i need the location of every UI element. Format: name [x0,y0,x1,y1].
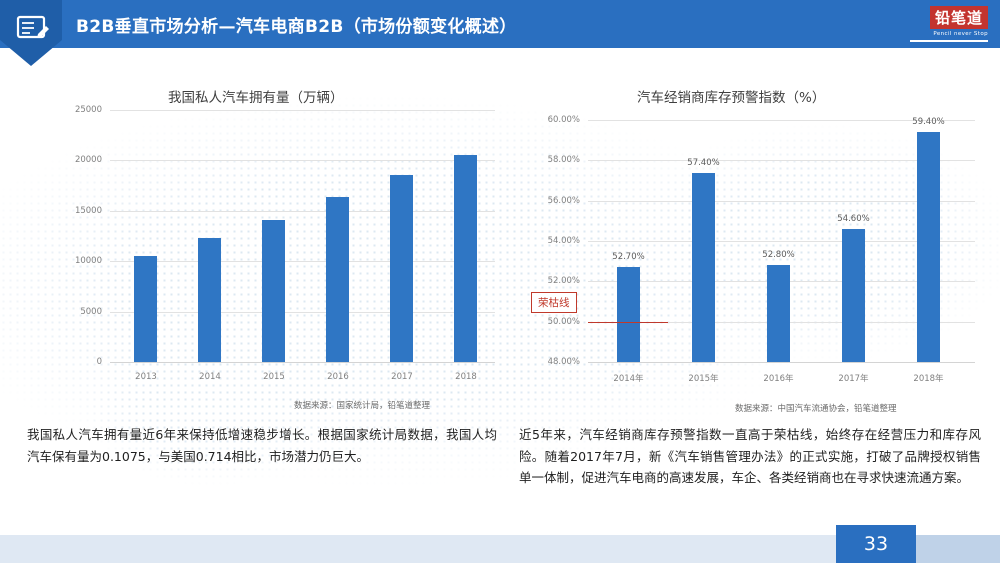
y-tick-label: 60.00% [520,115,580,125]
left-chart-title: 我国私人汽车拥有量（万辆） [168,86,344,106]
x-tick-label: 2016年 [751,372,806,384]
left-chart-source: 数据来源：国家统计局，铅笔道整理 [294,399,430,411]
x-tick-label: 2016 [311,372,365,382]
x-axis-line [110,362,495,363]
right-chart-title: 汽车经销商库存预警指数（%） [637,86,825,106]
bar[interactable] [326,197,349,362]
gridline [110,211,495,212]
y-tick-label: 5000 [50,307,102,317]
gridline [110,312,495,313]
bar-value-label: 57.40% [677,158,730,168]
y-tick-label: 0 [50,357,102,367]
y-tick-label: 10000 [50,256,102,266]
y-tick-label: 52.00% [520,276,580,286]
x-tick-label: 2018 [439,372,493,382]
left-summary-text: 我国私人汽车拥有量近6年来保持低增速稳步增长。根据国家统计局数据，我国人均汽车保… [27,424,497,467]
y-tick-label: 50.00% [520,317,580,327]
x-axis-line [588,362,975,363]
y-tick-label: 15000 [50,206,102,216]
bar[interactable] [454,155,477,362]
y-tick-label: 20000 [50,155,102,165]
x-tick-label: 2017年 [826,372,881,384]
bar[interactable] [134,256,157,362]
left-chart: 25000 20000 15000 10000 5000 0 2013 2014… [40,110,510,400]
bar[interactable] [692,173,715,363]
y-tick-label: 56.00% [520,196,580,206]
x-tick-label: 2017 [375,372,429,382]
bar[interactable] [917,132,940,362]
footer-accent-block [916,535,1000,563]
gridline [110,110,495,111]
threshold-line [588,322,668,323]
gridline [110,160,495,161]
bar-value-label: 54.60% [827,214,880,224]
x-tick-label: 2014 [183,372,237,382]
gridline [110,261,495,262]
page-title: B2B垂直市场分析—汽车电商B2B（市场份额变化概述） [76,12,517,37]
brand-logo-en: Pencil never Stop [910,31,988,37]
bar[interactable] [767,265,790,362]
y-tick-label: 54.00% [520,236,580,246]
x-tick-label: 2015年 [676,372,731,384]
bar-value-label: 52.70% [602,252,655,262]
x-tick-label: 2014年 [601,372,656,384]
x-tick-label: 2018年 [901,372,956,384]
right-chart-source: 数据来源：中国汽车流通协会，铅笔道整理 [735,402,897,414]
logo-icon [0,0,62,66]
bar[interactable] [262,220,285,362]
brand-logo-cn: 铅笔道 [930,6,988,29]
bar[interactable] [617,267,640,362]
bar-value-label: 52.80% [752,250,805,260]
x-tick-label: 2013 [119,372,173,382]
threshold-badge: 荣枯线 [531,292,577,313]
right-chart: 60.00% 58.00% 56.00% 54.00% 52.00% 50.00… [520,110,990,400]
page-number: 33 [836,525,916,563]
brand-logo-rule [910,40,988,42]
y-tick-label: 48.00% [520,357,580,367]
y-tick-label: 25000 [50,105,102,115]
brand-logo: 铅笔道 Pencil never Stop [910,6,988,42]
bar[interactable] [198,238,221,362]
x-tick-label: 2015 [247,372,301,382]
bar-value-label: 59.40% [902,117,955,127]
y-tick-label: 58.00% [520,155,580,165]
bar[interactable] [390,175,413,362]
right-summary-text: 近5年来，汽车经销商库存预警指数一直高于荣枯线，始终存在经营压力和库存风险。随着… [519,424,981,489]
bar[interactable] [842,229,865,362]
